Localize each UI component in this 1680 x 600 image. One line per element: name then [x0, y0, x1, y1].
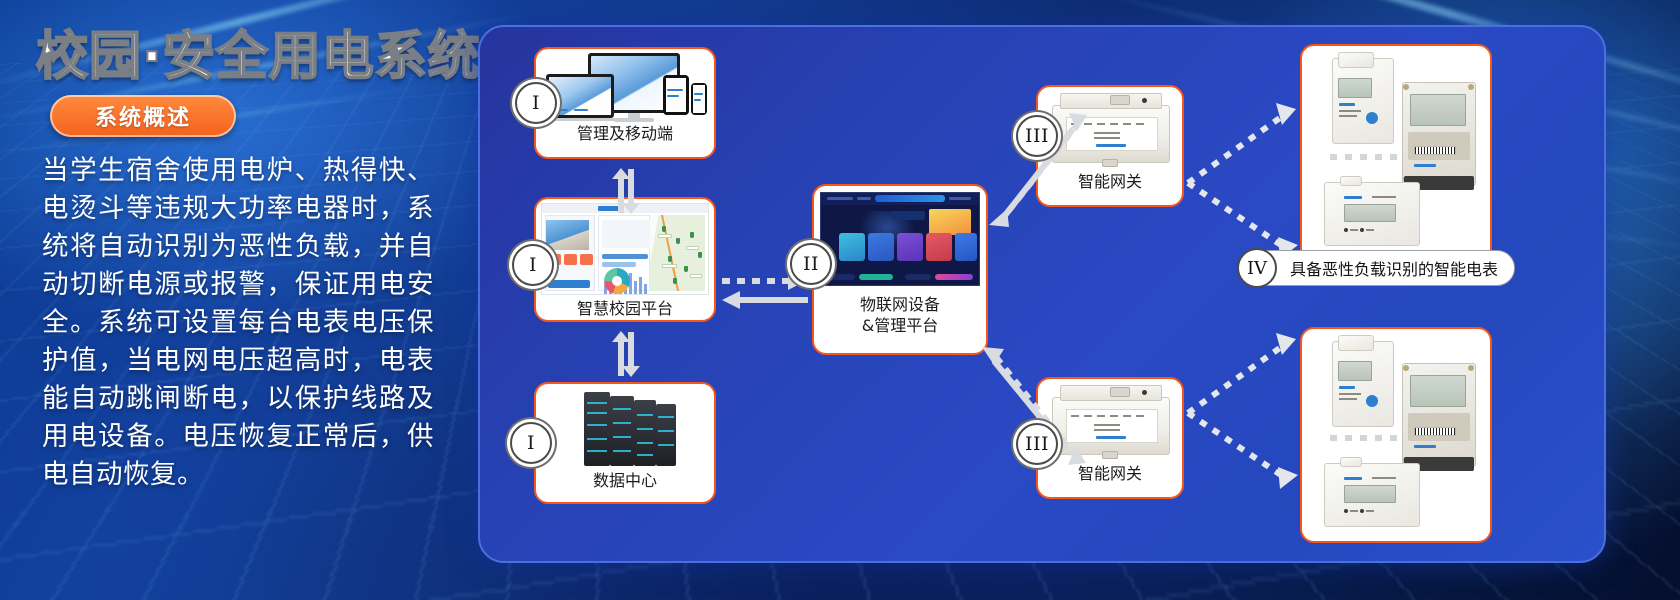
iot-platform-dashboard-illustration — [820, 192, 980, 286]
node-card-data-center[interactable]: 数据中心 — [534, 382, 716, 504]
connector-admin-to-campus — [608, 167, 642, 215]
left-text-column: 校园·安全用电系统 系统概述 当学生宿舍使用电炉、热得快、电烫斗等违规大功率电器… — [0, 0, 470, 600]
connector-gateway-bottom-to-meters — [1180, 317, 1310, 507]
system-overview-paragraph: 当学生宿舍使用电炉、热得快、电烫斗等违规大功率电器时，系统将自动识别为恶性负载，… — [42, 152, 434, 494]
badge-roman-i-datacenter: I — [510, 422, 552, 464]
devices-illustration — [536, 49, 714, 123]
node-card-smart-meters-bottom[interactable] — [1300, 327, 1492, 543]
node-label-iot-platform-line2: &管理平台 — [814, 315, 986, 336]
smart-campus-dashboard-illustration — [541, 203, 709, 295]
meter-legend-text: 具备恶性负载识别的智能电表 — [1290, 256, 1498, 280]
section-pill-label: 系统概述 — [95, 100, 191, 132]
meter-legend-pill: 具备恶性负载识别的智能电表 — [1243, 250, 1515, 286]
node-card-iot-platform[interactable]: 物联网设备 &管理平台 — [812, 184, 988, 355]
node-card-smart-meters-top[interactable] — [1300, 44, 1492, 266]
badge-roman-i-admin: I — [515, 82, 557, 124]
page-title: 校园·安全用电系统 — [36, 14, 481, 89]
badge-roman-iv-meter: IV — [1237, 248, 1277, 288]
smart-meter-devices-illustration — [1302, 46, 1490, 264]
server-racks-illustration — [536, 384, 714, 470]
connector-campus-to-datacenter — [608, 330, 642, 378]
node-label-iot-platform: 物联网设备 — [814, 294, 986, 315]
node-card-admin-mobile[interactable]: 管理及移动端 — [534, 47, 716, 159]
architecture-diagram-panel: 管理及移动端 I — [478, 25, 1606, 563]
node-label-smart-campus: 智慧校园平台 — [536, 298, 714, 319]
badge-roman-ii-iot: II — [790, 243, 832, 285]
badge-roman-i-campus: I — [512, 244, 554, 286]
badge-roman-iii-gateway-bottom: III — [1016, 423, 1058, 465]
badge-roman-iii-gateway-top: III — [1016, 115, 1058, 157]
smart-meter-devices-illustration — [1302, 329, 1490, 541]
node-card-smart-campus[interactable]: 智慧校园平台 — [534, 197, 716, 322]
node-label-data-center: 数据中心 — [536, 470, 714, 491]
section-pill-system-overview: 系统概述 — [50, 95, 236, 137]
node-label-admin-mobile: 管理及移动端 — [536, 123, 714, 144]
connector-gateway-top-to-meters — [1180, 87, 1310, 277]
